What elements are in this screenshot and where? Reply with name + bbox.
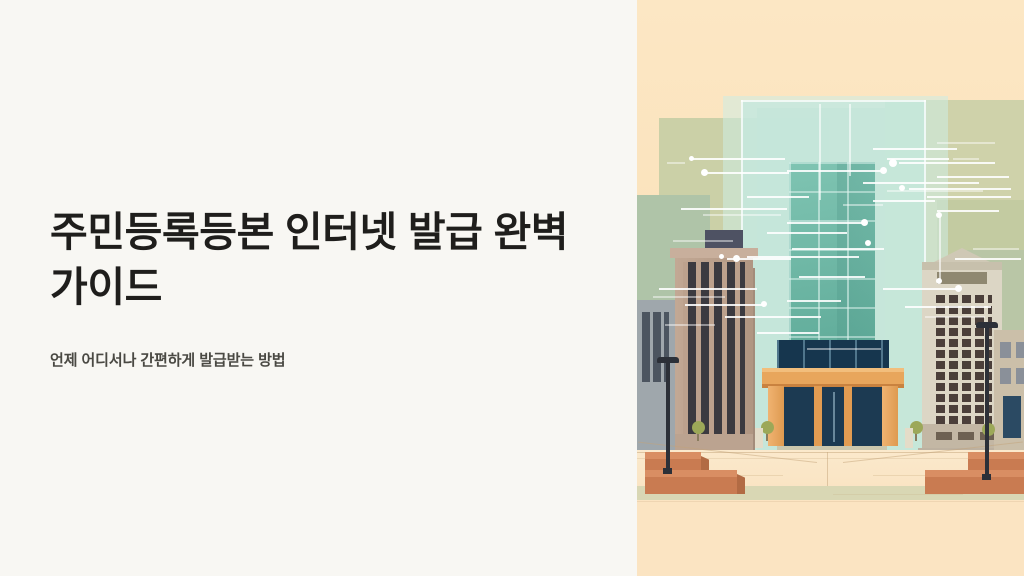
planter-block-lower-right [925,470,1024,494]
right-building-windows [932,292,992,424]
tree-left [692,421,705,434]
bollard-left [755,428,763,448]
entrance-pillar-middle-2 [844,386,852,446]
foreground-edge-line [637,501,1024,502]
hero-illustration [637,0,1024,576]
street-lamp-base-right [982,474,991,480]
entrance-pillar-right [882,386,898,446]
planter-face [925,477,1024,494]
left-edge-block-windows [639,312,669,382]
glass-haze-edge-top [741,100,926,102]
entrance-glass-right [852,387,882,446]
far-right-window-3 [1000,368,1011,384]
planter-top [968,452,1024,459]
page-title: 주민등록등본 인터넷 발급 완벽 가이드 [50,205,595,315]
left-tower-roof [705,230,743,248]
planter-top [645,470,737,477]
entrance-pillar-left [768,386,784,446]
bollard-right [905,428,913,448]
street-lamp-base-left [663,468,672,474]
text-panel: 주민등록등본 인터넷 발급 완벽 가이드 언제 어디서나 간편하게 발급받는 방… [0,0,637,576]
foreground-seam [833,494,963,495]
foreground-ground [637,500,1024,576]
right-building-signboard [937,272,987,284]
left-tower-windows [683,262,745,434]
left-tower-cornice [670,248,758,258]
entrance-glass-left [784,387,814,446]
street-lamp-pole-left [666,362,670,474]
planter-top [645,452,701,459]
planter-face [645,477,737,494]
right-building-cornice [922,262,1002,270]
planter-top [925,470,1024,477]
tower-lobby-glass-mullions [777,340,889,370]
hero-banner: 주민등록등본 인터넷 발급 완벽 가이드 언제 어디서나 간편하게 발급받는 방… [0,0,1024,576]
hero-text-block: 주민등록등본 인터넷 발급 완벽 가이드 언제 어디서나 간편하게 발급받는 방… [50,205,595,370]
entrance-canopy [762,372,904,384]
street-lamp-pole-right [985,327,989,480]
entrance-pillar-middle-1 [814,386,822,446]
page-subtitle: 언제 어디서나 간편하게 발급받는 방법 [50,349,595,370]
far-right-window-2 [1016,342,1024,358]
entrance-door-seam [833,392,835,442]
far-right-door [1003,396,1021,438]
planter-block-lower-left [645,470,737,494]
far-right-window-1 [1000,342,1011,358]
far-right-window-4 [1016,368,1024,384]
